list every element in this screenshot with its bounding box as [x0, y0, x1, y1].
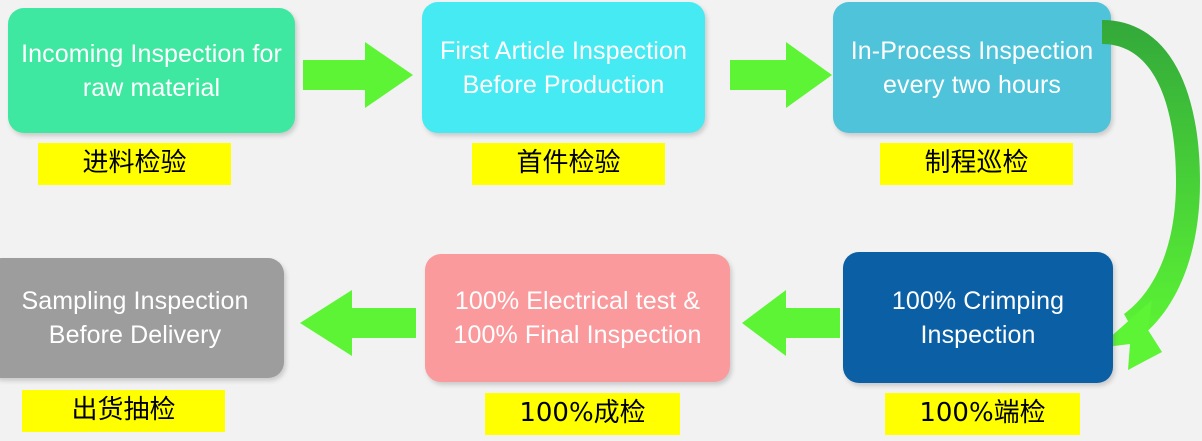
process-caption-in-process-inspection: 制程巡检: [880, 143, 1073, 185]
process-node-first-article-inspection[interactable]: First Article Inspection Before Producti…: [422, 2, 705, 133]
process-node-label: Sampling Inspection Before Delivery: [0, 284, 272, 352]
flowchart-canvas: Incoming Inspection for raw material 进料检…: [0, 0, 1202, 441]
flow-arrow-left-1: [298, 288, 418, 358]
process-node-label: 100% Electrical test & 100% Final Inspec…: [437, 284, 718, 352]
process-node-label: 100% Crimping Inspection: [855, 284, 1101, 352]
process-node-label: First Article Inspection Before Producti…: [434, 34, 693, 102]
process-caption-first-article-inspection: 首件检验: [472, 143, 665, 185]
process-caption-incoming-inspection: 进料检验: [38, 143, 231, 185]
process-caption-crimping-inspection: 100%端检: [885, 393, 1080, 435]
process-node-label: Incoming Inspection for raw material: [20, 37, 283, 105]
process-node-sampling-inspection[interactable]: Sampling Inspection Before Delivery: [0, 258, 284, 378]
process-node-electrical-final-inspection[interactable]: 100% Electrical test & 100% Final Inspec…: [425, 254, 730, 382]
caption-text: 出货抽检: [71, 395, 175, 425]
process-node-crimping-inspection[interactable]: 100% Crimping Inspection: [843, 252, 1113, 383]
caption-text: 首件检验: [516, 148, 620, 178]
flow-arrow-right-2: [730, 40, 834, 110]
process-node-label: In-Process Inspection every two hours: [845, 34, 1099, 102]
process-node-in-process-inspection[interactable]: In-Process Inspection every two hours: [833, 2, 1111, 133]
caption-text: 进料检验: [82, 148, 186, 178]
caption-text: 100%端检: [919, 398, 1045, 428]
caption-text: 100%成检: [519, 398, 645, 428]
process-caption-sampling-inspection: 出货抽检: [22, 390, 225, 432]
process-node-incoming-inspection[interactable]: Incoming Inspection for raw material: [8, 8, 295, 133]
process-caption-electrical-final-inspection: 100%成检: [485, 393, 680, 435]
flow-arrow-right-1: [303, 40, 415, 110]
caption-text: 制程巡检: [924, 148, 1028, 178]
flow-arrow-left-2: [740, 288, 842, 358]
